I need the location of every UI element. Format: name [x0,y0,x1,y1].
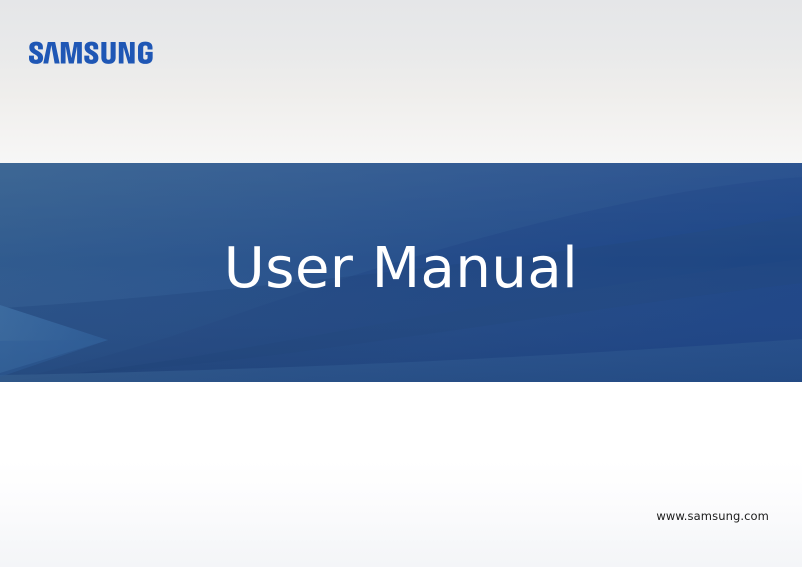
banner-background-graphic [0,163,802,382]
samsung-wordmark-logo [29,41,173,69]
footer-area [0,382,802,567]
user-manual-cover-page: User Manual www.samsung.com [0,0,802,567]
header-area [0,0,802,163]
banner-vertical-shade [0,163,802,382]
website-url[interactable]: www.samsung.com [656,509,769,523]
samsung-logo-svg [29,41,173,69]
title-banner: User Manual [0,163,802,382]
